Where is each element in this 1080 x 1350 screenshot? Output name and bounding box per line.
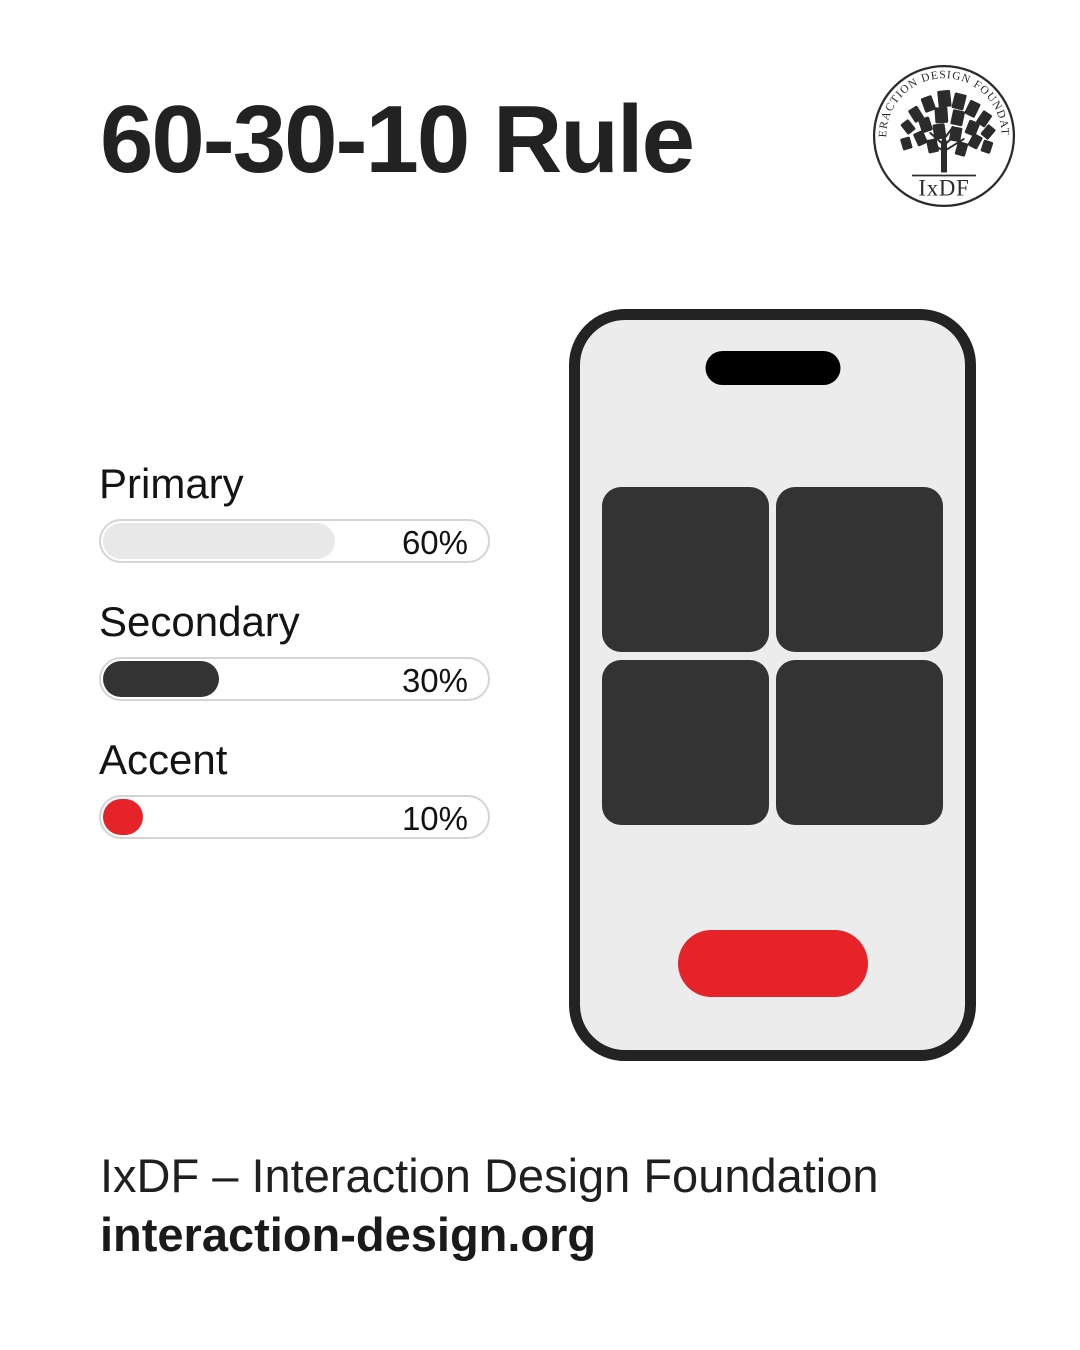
content-card[interactable] — [602, 660, 769, 825]
logo-wordmark: IxDF — [918, 175, 969, 200]
progress-bar-secondary[interactable]: 30% — [99, 657, 490, 701]
cta-button[interactable] — [678, 930, 868, 997]
legend-row-accent: Accent 10% — [99, 738, 499, 839]
footer-url[interactable]: interaction-design.org — [100, 1207, 960, 1262]
legend-row-primary: Primary 60% — [99, 462, 499, 563]
card-grid — [602, 487, 943, 825]
dynamic-island — [705, 351, 840, 385]
phone-mockup — [569, 309, 976, 1061]
progress-bar-accent[interactable]: 10% — [99, 795, 490, 839]
progress-value-secondary: 30% — [402, 659, 468, 701]
content-card[interactable] — [776, 487, 943, 652]
footer: IxDF – Interaction Design Foundation int… — [100, 1148, 960, 1263]
legend-row-secondary: Secondary 30% — [99, 600, 499, 701]
content-card[interactable] — [602, 487, 769, 652]
color-ratio-legend: Primary 60% Secondary 30% Accent 10% — [99, 462, 499, 839]
progress-value-accent: 10% — [402, 797, 468, 839]
legend-label-secondary: Secondary — [99, 600, 499, 644]
legend-label-primary: Primary — [99, 462, 499, 506]
ixdf-logo: INTERACTION DESIGN FOUNDATION — [868, 60, 1020, 212]
content-card[interactable] — [776, 660, 943, 825]
page-title: 60-30-10 Rule — [100, 92, 693, 188]
footer-organization: IxDF – Interaction Design Foundation — [100, 1148, 960, 1203]
progress-value-primary: 60% — [402, 521, 468, 563]
legend-label-accent: Accent — [99, 738, 499, 782]
header: 60-30-10 Rule INTERACTION DESIGN FOUNDAT… — [0, 0, 1080, 240]
progress-fill-secondary — [103, 661, 219, 697]
progress-fill-primary — [103, 523, 335, 559]
progress-fill-accent — [103, 799, 143, 835]
progress-bar-primary[interactable]: 60% — [99, 519, 490, 563]
